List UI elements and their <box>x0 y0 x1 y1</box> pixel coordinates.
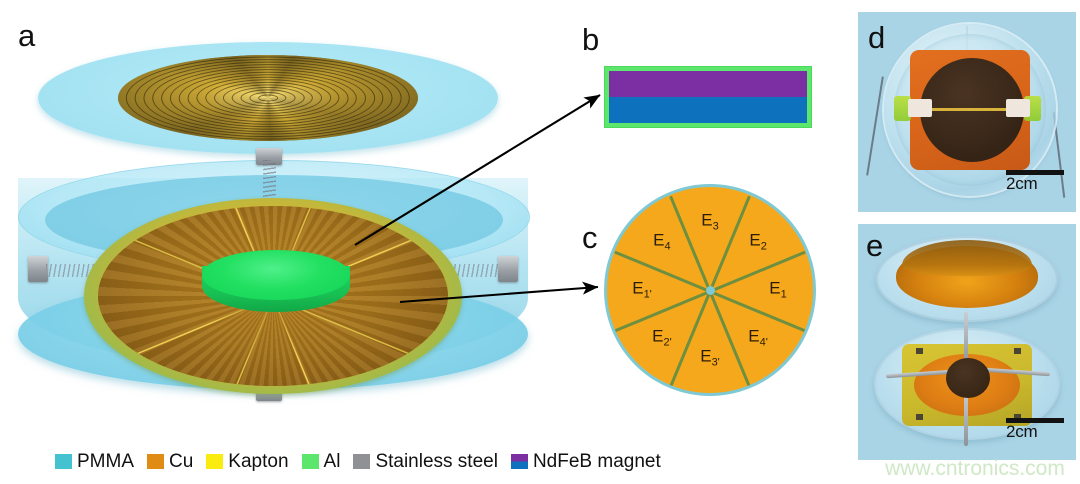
legend-swatch <box>511 454 528 469</box>
electrode-label-subscript: 4 <box>665 241 671 253</box>
legend-label: NdFeB magnet <box>533 452 661 471</box>
scale-bar-e: 2cm <box>1006 418 1064 441</box>
electrode-label: E3 <box>701 211 718 232</box>
panel-c-letter: c <box>582 222 598 253</box>
material-legend: PMMACuKaptonAlStainless steelNdFeB magne… <box>55 448 661 474</box>
magnet-rotor-hub <box>946 358 990 398</box>
electrode-label-base: E <box>769 278 780 297</box>
insulator-pad-left <box>908 99 932 117</box>
electrode-label: E4 <box>653 231 670 252</box>
aluminum-disc <box>202 250 350 334</box>
legend-swatch <box>302 454 319 469</box>
panel-e-letter: e <box>866 230 883 261</box>
electrode-label: E2' <box>652 327 672 348</box>
panel-b-letter: b <box>582 24 599 55</box>
electrode-label-base: E <box>632 278 643 297</box>
scale-bar-d: 2cm <box>1006 170 1064 193</box>
site-watermark: www.cntronics.com <box>872 456 1078 482</box>
electrode-label-base: E <box>653 230 664 249</box>
electrode-label-subscript: 2' <box>663 337 671 349</box>
legend-item: Kapton <box>206 452 288 471</box>
panel-e-photograph: e 2cm <box>858 224 1076 460</box>
electrode-label: E4' <box>748 327 768 348</box>
electrode-label-base: E <box>652 326 663 345</box>
aluminum-disc-top <box>202 250 350 300</box>
legend-item: NdFeB magnet <box>511 452 661 471</box>
legend-swatch <box>55 454 72 469</box>
legend-item: PMMA <box>55 452 134 471</box>
legend-label: Kapton <box>228 452 288 471</box>
corner-tab-bl <box>916 414 923 420</box>
scale-bar-label-d: 2cm <box>1006 175 1064 193</box>
legend-swatch <box>206 454 223 469</box>
electrode-label: E1' <box>632 279 652 300</box>
stainless-anchor-right <box>498 256 518 282</box>
insulator-pad-right <box>1006 99 1030 117</box>
electrode-label-base: E <box>701 210 712 229</box>
electrode-label-subscript: 1 <box>781 289 787 301</box>
electrode-label: E2 <box>749 231 766 252</box>
electrode-label-subscript: 4' <box>760 337 768 349</box>
figure-canvas: a <box>0 0 1080 484</box>
wheel-hub <box>706 286 715 295</box>
electrode-label-base: E <box>749 230 760 249</box>
legend-label: Stainless steel <box>375 452 498 471</box>
legend-item: Stainless steel <box>353 452 498 471</box>
corner-tab-tl <box>916 348 923 354</box>
pmma-top-lid <box>38 42 498 154</box>
legend-label: Cu <box>169 452 193 471</box>
ndfeb-magnet-upper-layer <box>609 71 807 97</box>
coil-ring <box>118 55 418 141</box>
pmma-base-housing <box>18 160 528 405</box>
panel-b-magnet-cross-section <box>604 66 812 128</box>
panel-c-electrode-layout: E3E2E1E4'E3'E2'E1'E4 <box>604 184 816 396</box>
electrode-label-base: E <box>700 346 711 365</box>
panel-d-photograph: d 2cm <box>858 12 1076 212</box>
electrode-label: E1 <box>769 279 786 300</box>
legend-swatch <box>353 454 370 469</box>
panel-d-letter: d <box>868 22 885 53</box>
corner-tab-tr <box>1014 348 1021 354</box>
electrode-label-base: E <box>748 326 759 345</box>
scale-bar-label-e: 2cm <box>1006 423 1064 441</box>
rotor-assembly <box>84 198 462 394</box>
electrode-label-subscript: 3' <box>712 357 720 369</box>
legend-label: Al <box>324 452 341 471</box>
guide-rod-bottom <box>964 390 968 446</box>
coil-ring-set <box>118 55 418 141</box>
stainless-anchor-left <box>28 256 48 282</box>
legend-item: Al <box>302 452 341 471</box>
electrode-label-subscript: 3 <box>713 221 719 233</box>
electrode-label: E3' <box>700 347 720 368</box>
electrode-label-subscript: 2 <box>761 241 767 253</box>
legend-swatch <box>147 454 164 469</box>
copper-spiral-coil <box>118 55 418 141</box>
panel-a-exploded-schematic: a <box>0 0 560 430</box>
electrode-label-subscript: 1' <box>644 289 652 301</box>
legend-item: Cu <box>147 452 193 471</box>
legend-label: PMMA <box>77 452 134 471</box>
lead-wire-left <box>866 76 884 175</box>
ndfeb-magnet-lower-layer <box>609 97 807 123</box>
panel-a-letter: a <box>18 20 35 51</box>
